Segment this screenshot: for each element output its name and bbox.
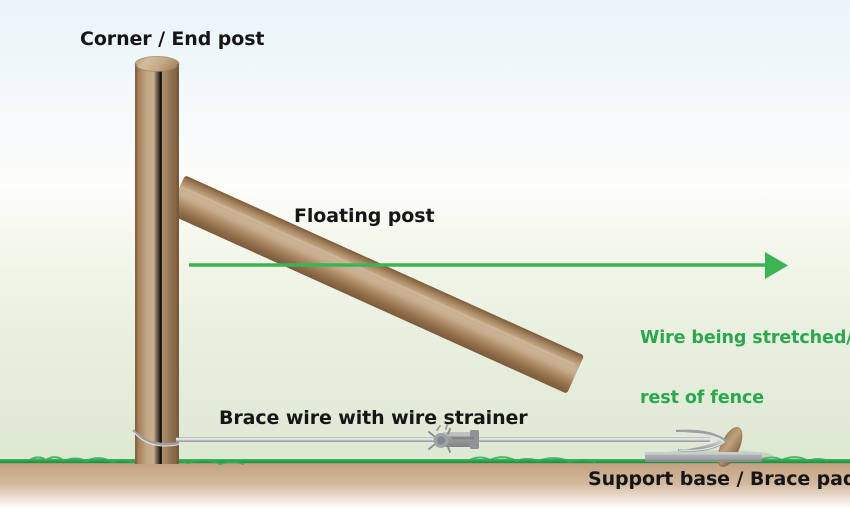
- label-brace-wire-with-strainer: Brace wire with wire strainer: [219, 407, 528, 429]
- label-corner-end-post: Corner / End post: [80, 28, 264, 50]
- corner-end-post: [135, 57, 179, 465]
- support-base-brace-pad: [645, 452, 762, 462]
- label-wire-being-stretched-line2: rest of fence: [640, 388, 850, 408]
- label-wire-being-stretched-line1: Wire being stretched/: [640, 328, 850, 348]
- label-wire-being-stretched: Wire being stretched/ rest of fence: [640, 287, 850, 449]
- fence-brace-diagram: Corner / End post Floating post Brace wi…: [0, 0, 850, 508]
- label-support-base-brace-pad: Support base / Brace pad: [588, 468, 850, 490]
- label-floating-post: Floating post: [294, 205, 434, 227]
